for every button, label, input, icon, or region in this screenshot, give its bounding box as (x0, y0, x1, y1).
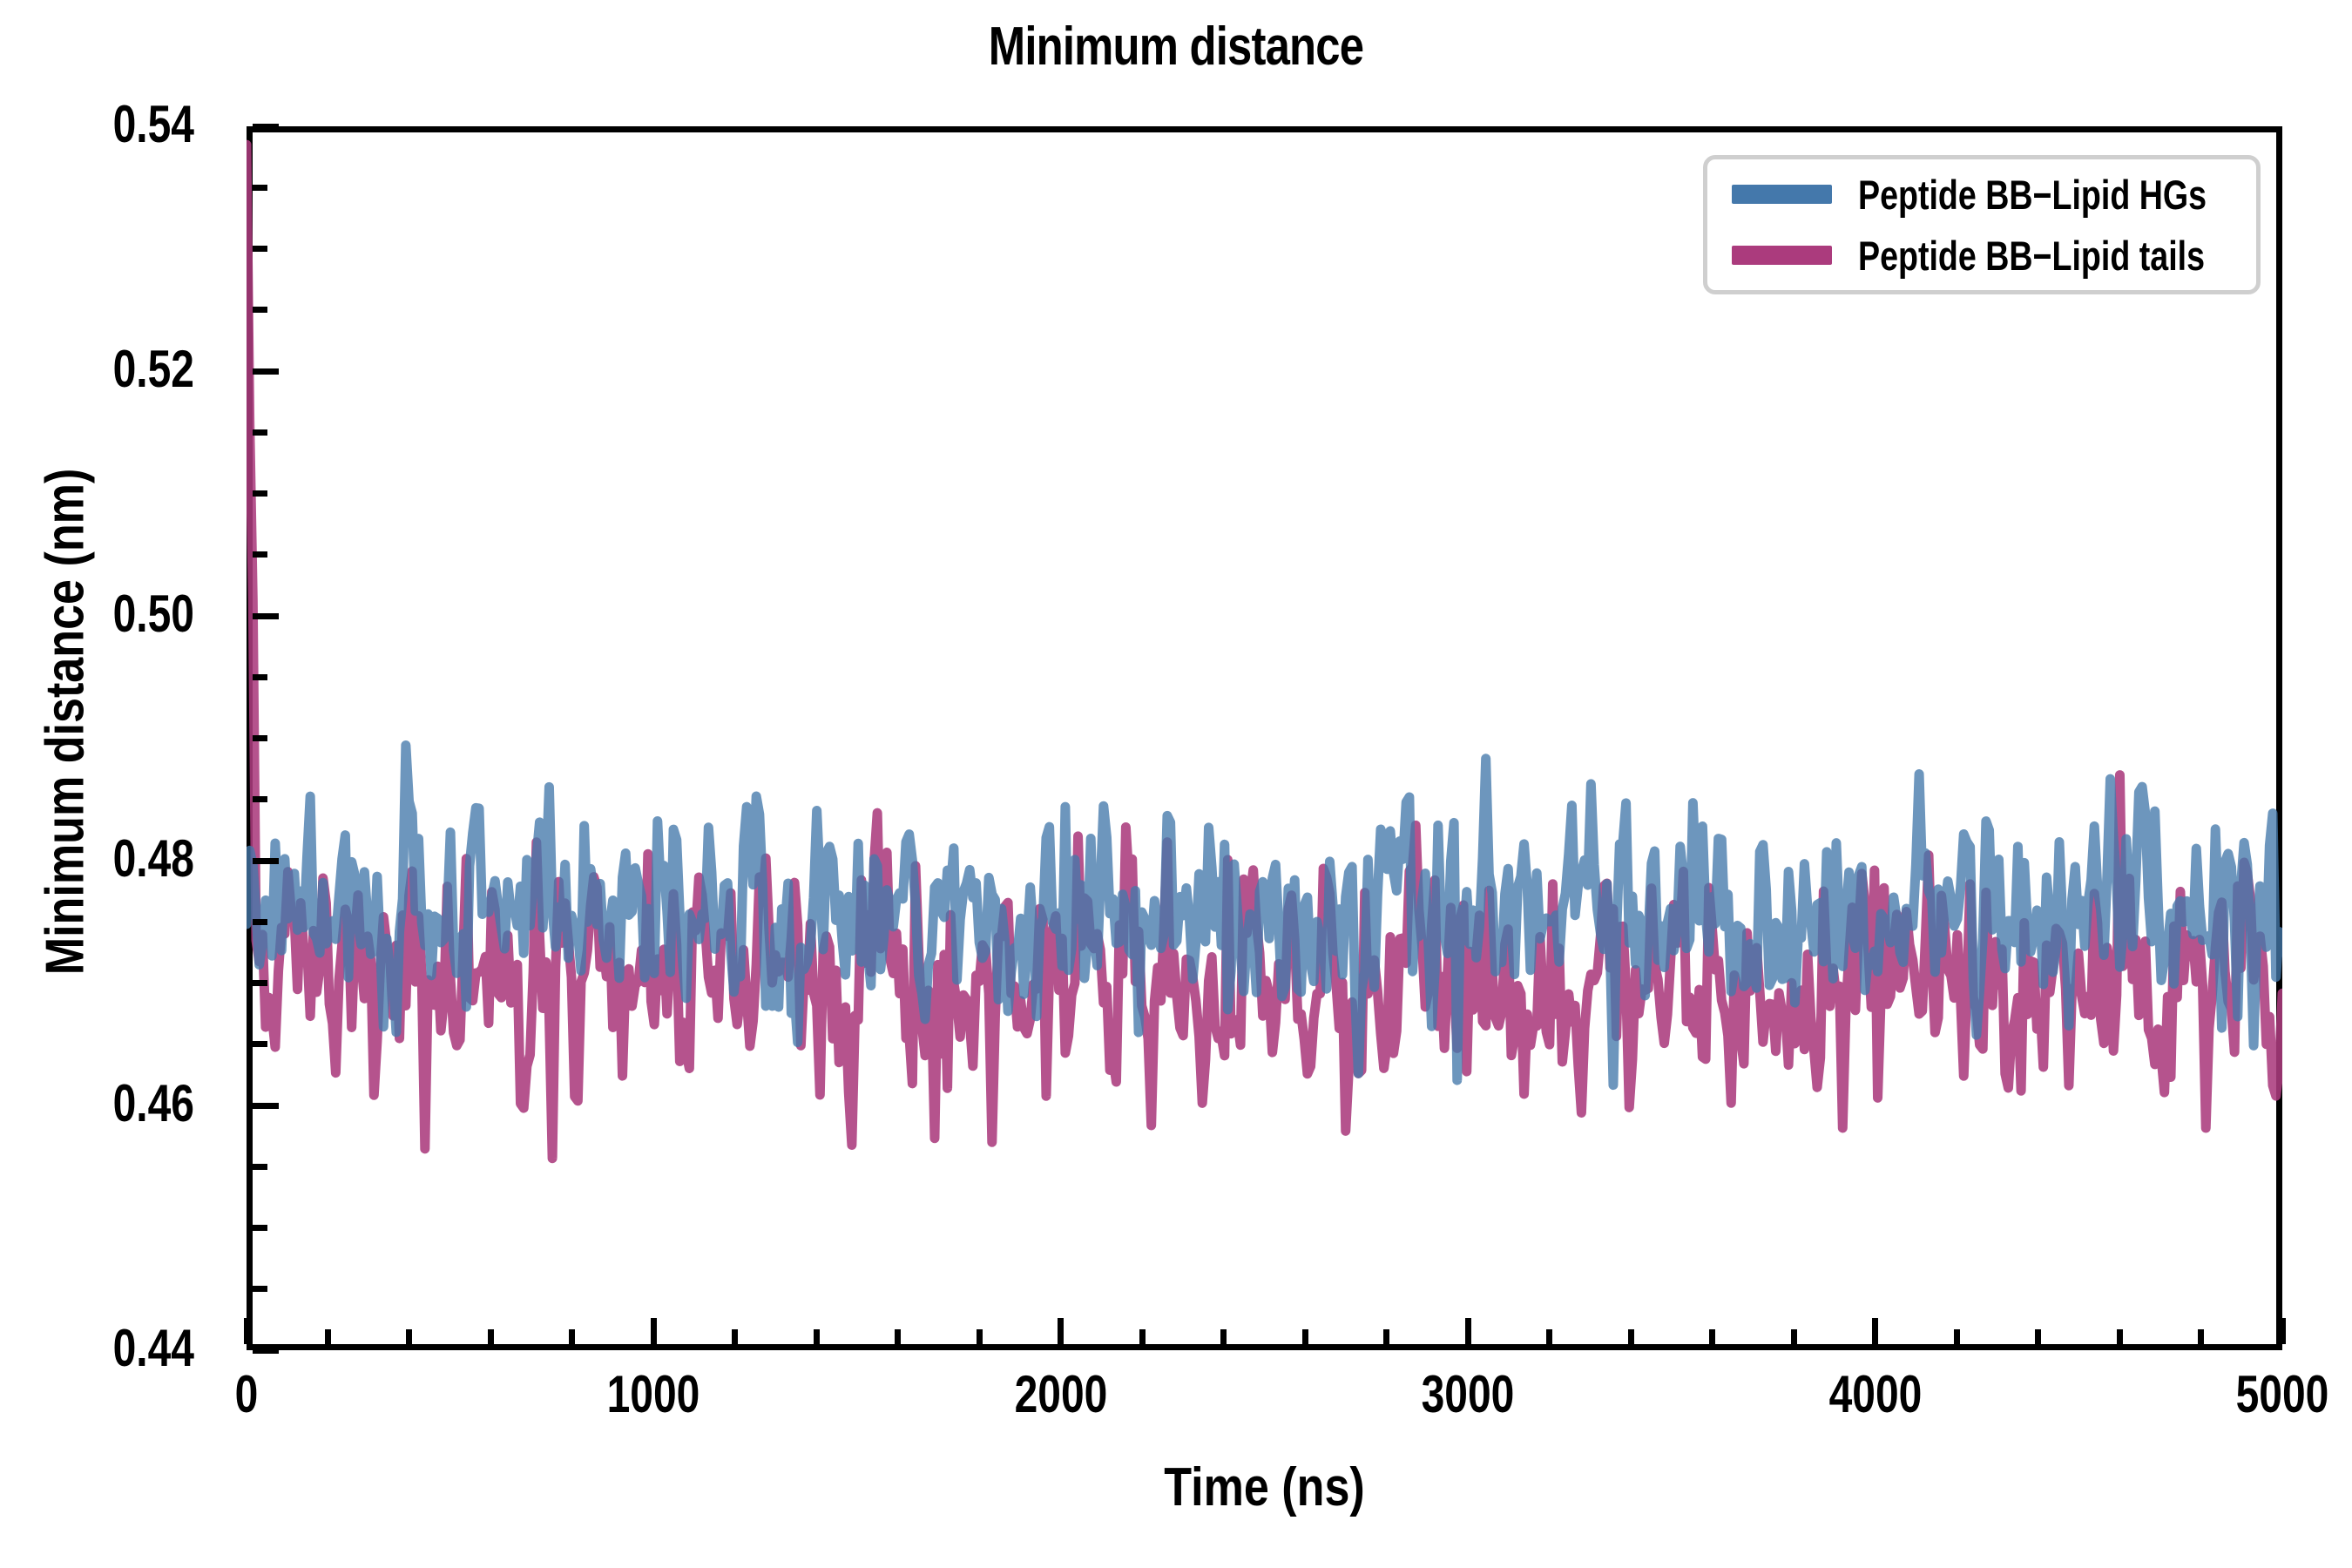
x-minor-tick (325, 1329, 331, 1344)
y-minor-tick (253, 674, 267, 680)
legend-item-0[interactable]: Peptide BB−Lipid HGs (1707, 164, 2256, 225)
legend-swatch-blue (1732, 185, 1832, 204)
y-minor-tick (253, 490, 267, 497)
figure-canvas: Minimum distance Minimum distance (nm) T… (0, 0, 2352, 1568)
x-major-tick (1872, 1318, 1878, 1344)
x-minor-tick (895, 1329, 901, 1344)
x-tick-label: 5000 (2178, 1364, 2352, 1424)
x-minor-tick (2117, 1329, 2123, 1344)
y-minor-tick (253, 185, 267, 191)
x-minor-tick (1302, 1329, 1308, 1344)
legend-box[interactable]: Peptide BB−Lipid HGs Peptide BB−Lipid ta… (1703, 155, 2261, 294)
x-major-tick (1058, 1318, 1064, 1344)
x-minor-tick (1791, 1329, 1797, 1344)
y-major-tick (253, 613, 279, 619)
y-minor-tick (253, 1286, 267, 1292)
x-tick-label: 3000 (1363, 1364, 1572, 1424)
series-layer (247, 126, 2282, 1350)
y-minor-tick (253, 246, 267, 252)
x-minor-tick (488, 1329, 494, 1344)
legend-label-1: Peptide BB−Lipid tails (1858, 232, 2205, 280)
y-tick-label: 0.54 (0, 94, 194, 154)
x-axis-label: Time (ns) (409, 1456, 2119, 1518)
y-minor-tick (253, 551, 267, 558)
y-major-tick (253, 124, 279, 130)
x-tick-label: 1000 (549, 1364, 758, 1424)
x-minor-tick (2198, 1329, 2204, 1344)
x-tick-label: 4000 (1771, 1364, 1980, 1424)
chart-title: Minimum distance (212, 16, 2140, 78)
y-minor-tick (253, 919, 267, 925)
x-minor-tick (1546, 1329, 1552, 1344)
y-major-tick (253, 858, 279, 864)
x-major-tick (651, 1318, 657, 1344)
x-minor-tick (732, 1329, 738, 1344)
x-minor-tick (2035, 1329, 2041, 1344)
x-minor-tick (1954, 1329, 1960, 1344)
x-tick-label: 2000 (956, 1364, 1166, 1424)
x-tick-label: 0 (142, 1364, 351, 1424)
y-tick-label: 0.46 (0, 1073, 194, 1133)
x-minor-tick (814, 1329, 820, 1344)
y-minor-tick (253, 1164, 267, 1170)
x-minor-tick (1628, 1329, 1634, 1344)
y-minor-tick (253, 429, 267, 436)
y-minor-tick (253, 796, 267, 802)
legend-item-1[interactable]: Peptide BB−Lipid tails (1707, 225, 2256, 286)
x-minor-tick (1139, 1329, 1146, 1344)
y-tick-label: 0.48 (0, 828, 194, 889)
legend-swatch-pink (1732, 246, 1832, 265)
x-minor-tick (1709, 1329, 1715, 1344)
y-major-tick (253, 368, 279, 375)
y-minor-tick (253, 307, 267, 313)
x-major-tick (244, 1318, 250, 1344)
series-svg (247, 126, 2282, 1350)
y-minor-tick (253, 1225, 267, 1231)
y-major-tick (253, 1348, 279, 1354)
y-minor-tick (253, 980, 267, 986)
y-tick-label: 0.52 (0, 339, 194, 399)
y-minor-tick (253, 735, 267, 741)
y-minor-tick (253, 1041, 267, 1047)
y-tick-label: 0.50 (0, 584, 194, 644)
legend-label-0: Peptide BB−Lipid HGs (1858, 171, 2207, 219)
x-minor-tick (1383, 1329, 1389, 1344)
x-minor-tick (406, 1329, 412, 1344)
x-major-tick (1465, 1318, 1471, 1344)
x-minor-tick (569, 1329, 575, 1344)
x-minor-tick (1220, 1329, 1227, 1344)
x-minor-tick (977, 1329, 983, 1344)
x-major-tick (2280, 1318, 2286, 1344)
y-major-tick (253, 1103, 279, 1109)
